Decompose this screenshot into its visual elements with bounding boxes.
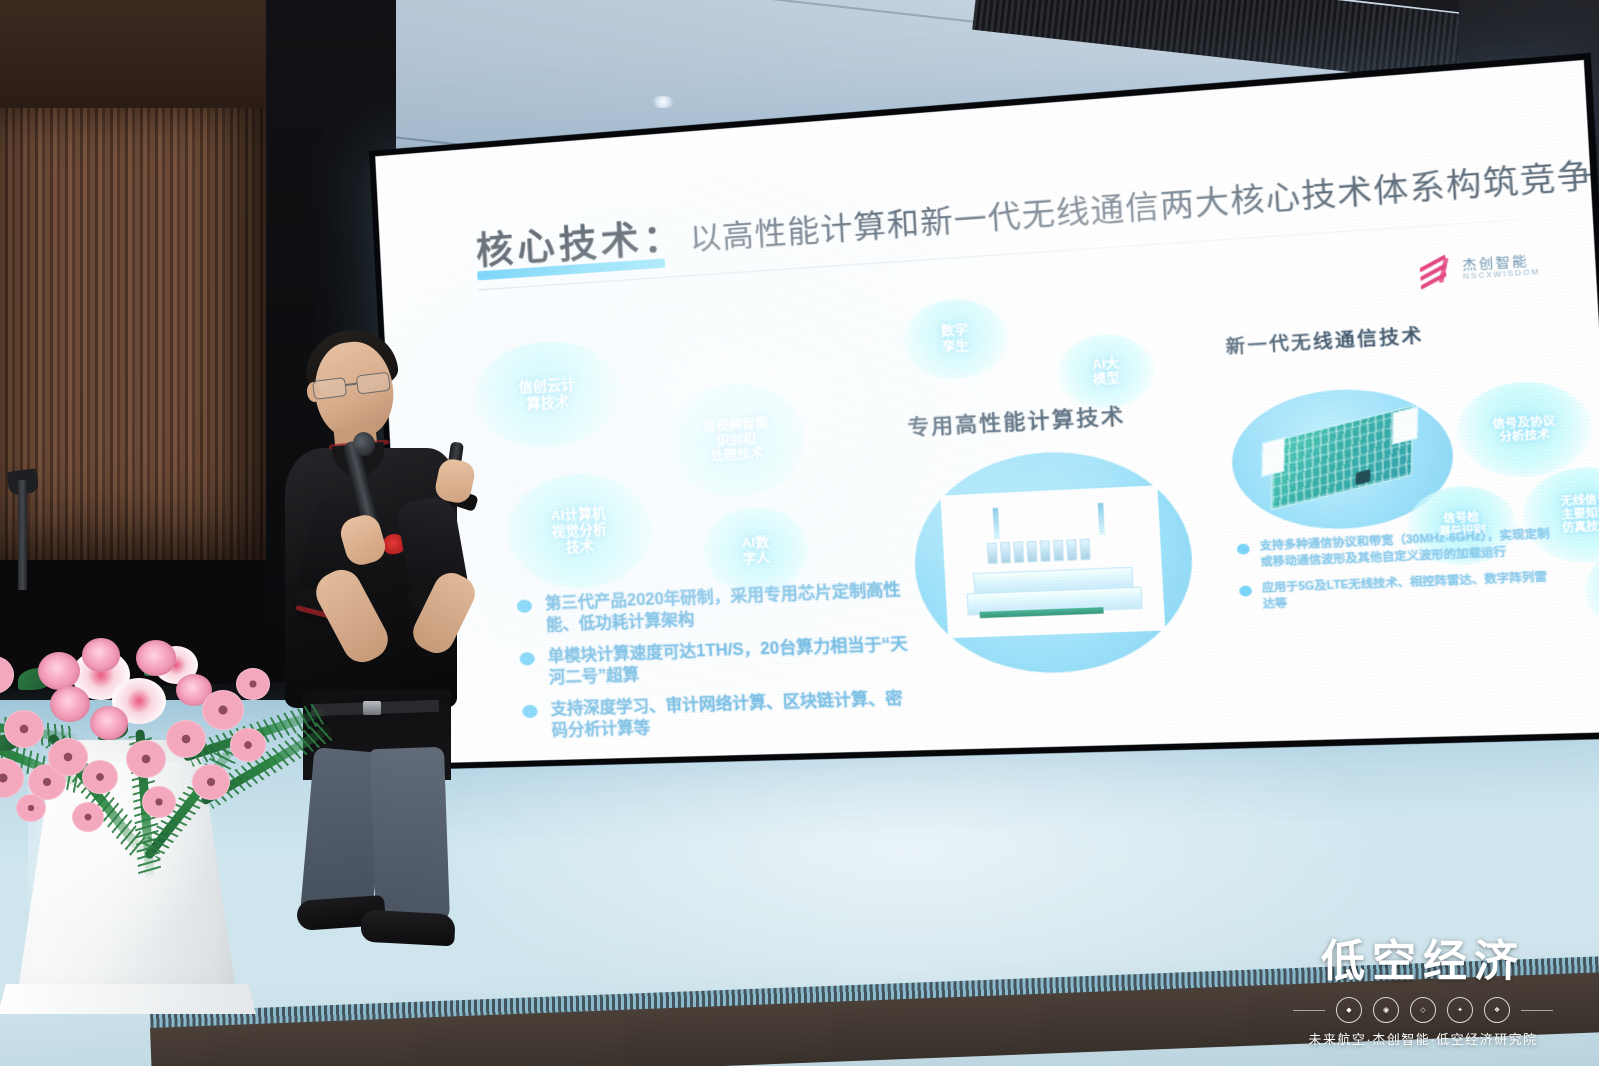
speaker-shoe-right [360,910,456,947]
tech-bubble-label: 信创云计 算技术 [518,376,577,413]
rose-flower [90,706,128,740]
bullet-item: 支持深度学习、审计网络计算、区块链计算、密码分析计算等 [522,688,913,744]
tech-bubble-label: 音视频智能 识别和 处理技术 [702,416,770,465]
section-heading-wireless: 新一代无线通信技术 [1225,320,1424,359]
bullet-dot-icon [1237,543,1250,554]
led-screen-surface: 核心技术： 以高性能计算和新一代无线通信两大核心技术体系构筑竞争优势 [375,60,1599,764]
podium [0,612,290,1032]
gerbera-flower [16,794,46,822]
bullet-text: 第三代产品2020年研制，采用专用芯片定制高性能、低功耗计算架构 [545,579,908,637]
watermark-rule-left [1293,1010,1325,1011]
watermark-logo-row: ◆ ◉ ◇ ✦ ❖ [1293,997,1553,1023]
gerbera-flower [4,710,44,748]
right-bullet-list: 支持多种通信协议和带宽（30MHz-6GHz），实现定制或移动通信波形及其他自定… [1236,526,1559,623]
pcb-bracket [1392,407,1418,445]
hpc-chassis-photo [940,485,1165,638]
wireless-bubble-label: 信号及协议 分析技术 [1492,414,1556,444]
partner-logo-icon: ❖ [1484,997,1510,1023]
gerbera-flower [142,786,176,818]
gerbera-flower [0,656,14,694]
gerbera-flower [126,740,166,778]
bullet-text: 支持多种通信协议和带宽（30MHz-6GHz），实现定制或移动通信波形及其他自定… [1259,526,1556,571]
watermark-rule-right [1521,1010,1553,1011]
tech-bubble-av-recognition: 音视频智能 识别和 处理技术 [665,380,808,500]
gerbera-flower [72,802,104,832]
belt-buckle-icon [363,701,381,715]
tech-bubble-label: AI数 字人 [741,534,770,567]
wood-slat-paneling [0,108,268,560]
partner-logo-icon: ◇ [1410,997,1436,1023]
bullet-item: 单模块计算速度可达1TH/S，20台算力相当于“天河二号”超算 [519,633,910,690]
event-watermark: 低空经济 ◆ ◉ ◇ ✦ ❖ 未来航空·杰创智能·低空经济研究院 [1293,925,1553,1048]
section-heading-hpc: 专用高性能计算技术 [907,399,1127,441]
conference-photo-scene: 核心技术： 以高性能计算和新一代无线通信两大核心技术体系构筑竞争优势 [0,0,1599,1066]
gerbera-flower [202,690,244,730]
flower-arrangement [0,612,330,842]
gerbera-flower [192,764,230,800]
bullet-text: 单模块计算速度可达1TH/S，20台算力相当于“天河二号”超算 [547,633,910,689]
left-wall-header [0,0,300,112]
bullet-dot-icon [1239,585,1252,596]
ceiling-downlight [650,96,676,108]
tech-bubble-label: 数字 孪生 [940,323,969,356]
led-screen-frame: 核心技术： 以高性能计算和新一代无线通信两大核心技术体系构筑竞争优势 [369,53,1599,770]
bullet-text: 应用于5G及LTE无线技术、相控阵雷达、数字阵列雷达等 [1262,569,1560,613]
tech-bubble-label: AI大 模型 [1092,356,1120,388]
bullet-text: 支持深度学习、审计网络计算、区块链计算、密码分析计算等 [550,688,913,743]
partner-logo-icon: ◆ [1336,997,1362,1023]
podium-base [0,984,256,1014]
tech-bubble-ai-digital-human: AI数 字人 [701,504,811,595]
watermark-title: 低空经济 [1293,925,1553,989]
rose-flower [38,652,80,690]
tech-bubble-ai-vision: AI计算机 视觉分析 技术 [504,471,655,591]
rose-flower [50,686,90,722]
gerbera-flower [48,738,88,776]
watermark-subtitle: 未来航空·杰创智能·低空经济研究院 [1293,1029,1553,1048]
left-bullet-list: 第三代产品2020年研制，采用专用芯片定制高性能、低功耗计算架构 单模块计算速度… [516,579,913,752]
pcb-bracket [1262,438,1285,477]
gerbera-flower [166,720,206,758]
company-logo: 杰创智能 NSCXWISDOM [1417,249,1541,290]
chassis-illustration [955,496,1151,629]
rose-flower [82,638,120,672]
partner-logo-icon: ✦ [1447,997,1473,1023]
tech-bubble-label: AI计算机 视觉分析 技术 [550,506,608,557]
wireless-bubble-label: 无线信号 主要知识 仿真技术 [1560,494,1599,535]
gerbera-flower [82,760,118,794]
bullet-item: 应用于5G及LTE无线技术、相控阵雷达、数字阵列雷达等 [1239,569,1559,614]
slide-content: 核心技术： 以高性能计算和新一代无线通信两大核心技术体系构筑竞争优势 [375,60,1599,764]
cube-logo-icon [1417,254,1454,289]
rose-flower [136,640,176,676]
partner-logo-icon: ◉ [1373,997,1399,1023]
tech-bubble-digital-twin: 数字 孪生 [901,296,1010,382]
microphone-stand [18,480,27,590]
slide-title-subtitle: 以高性能计算和新一代无线通信两大核心技术体系构筑竞争优势 [688,142,1599,258]
wireless-bubble-protocol-analysis: 信号及协议 分析技术 [1455,378,1594,479]
presentation-slide: 核心技术： 以高性能计算和新一代无线通信两大核心技术体系构筑竞争优势 [375,60,1599,764]
gerbera-flower [230,728,266,762]
led-screen[interactable]: 核心技术： 以高性能计算和新一代无线通信两大核心技术体系构筑竞争优势 [385,150,1505,770]
brand-text: 杰创智能 NSCXWISDOM [1462,254,1541,281]
bullet-item: 支持多种通信协议和带宽（30MHz-6GHz），实现定制或移动通信波形及其他自定… [1236,526,1556,572]
gerbera-flower [236,668,270,700]
